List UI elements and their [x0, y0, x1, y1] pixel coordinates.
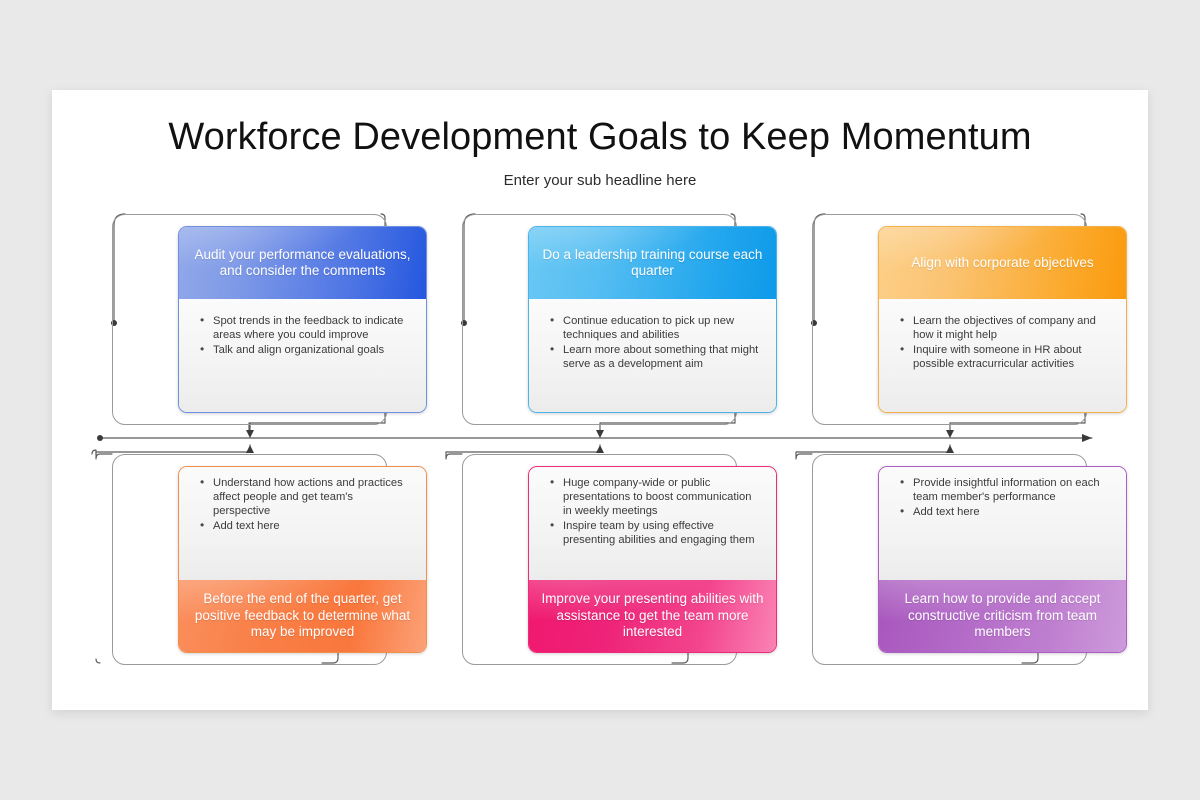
list-item: Learn more about something that might se… — [563, 344, 762, 372]
screenshot-root: Workforce Development Goals to Keep Mome… — [0, 0, 1200, 800]
list-item: Add text here — [913, 506, 1112, 520]
card-top-3-bullet-list: Learn the objectives of company and how … — [891, 315, 1114, 372]
card-top-2-banner: Do a leadership training course each qua… — [529, 227, 776, 299]
list-item: Talk and align organizational goals — [213, 344, 412, 358]
timeline-start-dot — [97, 435, 103, 441]
list-item: Add text here — [213, 520, 412, 534]
card-top-1-banner: Audit your performance evaluations, and … — [179, 227, 426, 299]
list-item: Provide insightful information on each t… — [913, 477, 1112, 505]
card-top-3-banner: Align with corporate objectives — [879, 227, 1126, 299]
card-bottom-2[interactable]: Huge company-wide or public presentation… — [528, 466, 777, 653]
list-item: Understand how actions and practices aff… — [213, 477, 412, 519]
page-subtitle: Enter your sub headline here — [52, 172, 1148, 189]
list-item: Huge company-wide or public presentation… — [563, 477, 762, 519]
list-item: Continue education to pick up new techni… — [563, 315, 762, 343]
slide-canvas: Workforce Development Goals to Keep Mome… — [52, 90, 1148, 710]
card-bottom-1-banner: Before the end of the quarter, get posit… — [179, 580, 426, 652]
card-top-1-bullet-list: Spot trends in the feedback to indicate … — [191, 315, 414, 358]
list-item: Inspire team by using effective presenti… — [563, 520, 762, 548]
card-bottom-2-body: Huge company-wide or public presentation… — [529, 467, 776, 580]
card-top-3-body: Learn the objectives of company and how … — [879, 299, 1126, 412]
page-title: Workforce Development Goals to Keep Mome… — [52, 116, 1148, 159]
card-bottom-3-bullet-list: Provide insightful information on each t… — [891, 477, 1114, 520]
card-bottom-1[interactable]: Understand how actions and practices aff… — [178, 466, 427, 653]
card-bottom-1-bullet-list: Understand how actions and practices aff… — [191, 477, 414, 534]
card-bottom-3-banner: Learn how to provide and accept construc… — [879, 580, 1126, 652]
card-top-2-body: Continue education to pick up new techni… — [529, 299, 776, 412]
list-item: Inquire with someone in HR about possibl… — [913, 344, 1112, 372]
card-top-2[interactable]: Do a leadership training course each qua… — [528, 226, 777, 413]
list-item: Spot trends in the feedback to indicate … — [213, 315, 412, 343]
card-top-2-bullet-list: Continue education to pick up new techni… — [541, 315, 764, 372]
card-top-1-body: Spot trends in the feedback to indicate … — [179, 299, 426, 412]
card-bottom-1-body: Understand how actions and practices aff… — [179, 467, 426, 580]
card-bottom-3-body: Provide insightful information on each t… — [879, 467, 1126, 580]
card-bottom-2-banner: Improve your presenting abilities with a… — [529, 580, 776, 652]
card-bottom-3[interactable]: Provide insightful information on each t… — [878, 466, 1127, 653]
card-top-3[interactable]: Align with corporate objectives Learn th… — [878, 226, 1127, 413]
card-bottom-2-bullet-list: Huge company-wide or public presentation… — [541, 477, 764, 548]
card-top-1[interactable]: Audit your performance evaluations, and … — [178, 226, 427, 413]
list-item: Learn the objectives of company and how … — [913, 315, 1112, 343]
